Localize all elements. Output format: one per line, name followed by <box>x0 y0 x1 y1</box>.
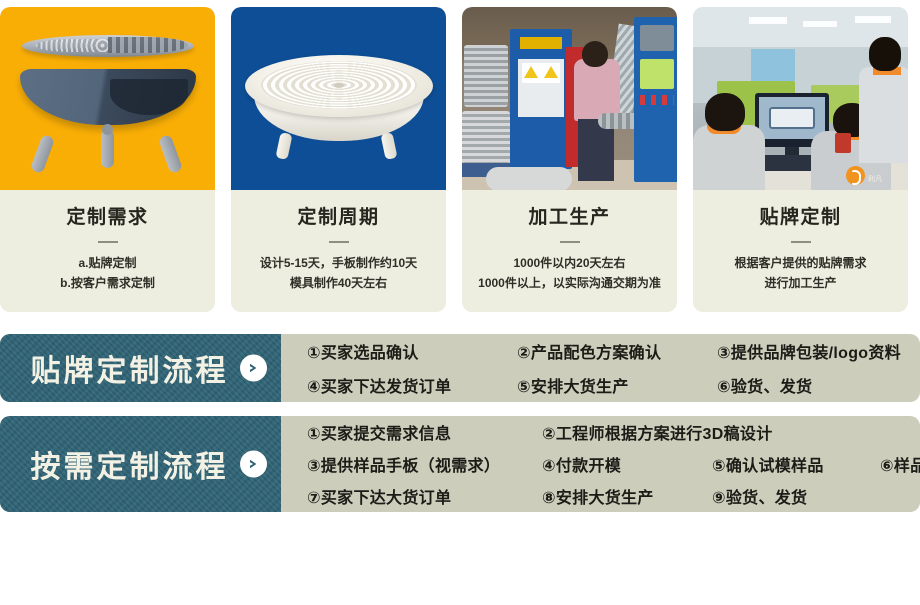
product-lid-shape <box>22 35 194 57</box>
card-media-office-photo: 利凡 <box>693 7 908 190</box>
card-desc-line: 进行加工生产 <box>734 274 866 294</box>
factory-part-stack-lower <box>462 111 510 163</box>
factory-part-stack-upper <box>464 45 508 107</box>
process-step: ⑤安排大货生产 <box>517 373 717 397</box>
office-pen-cup <box>835 133 851 153</box>
process-step-row: ①买家提交需求信息 ②工程师根据方案进行3D稿设计 <box>307 416 920 448</box>
card-divider <box>98 241 118 243</box>
company-watermark-logo: 利凡 <box>846 164 904 186</box>
ondemand-process-steps: ①买家提交需求信息 ②工程师根据方案进行3D稿设计 ③提供样品手板（视需求） ④… <box>281 416 920 512</box>
cad-drawing-on-screen <box>769 107 815 129</box>
card-description: a.贴牌定制 b.按客户需求定制 <box>60 254 155 294</box>
product-leg-right <box>158 134 183 174</box>
feature-card-oem-branding: 利凡 贴牌定制 根据客户提供的贴牌需求 进行加工生产 <box>693 7 908 312</box>
card-media-prototype-photo <box>231 7 446 190</box>
feature-card-processing-production: 加工生产 1000件以内20天左右 1000件以上，以实际沟通交期为准 <box>462 7 677 312</box>
chevron-right-icon <box>240 355 267 382</box>
card-desc-line: 根据客户提供的贴牌需求 <box>734 254 866 274</box>
factory-control-screen-top <box>640 25 674 51</box>
process-step: ③提供样品手板（视需求） <box>307 452 542 476</box>
product-bowl-shape <box>20 69 196 125</box>
card-desc-line: 设计5-15天，手板制作约10天 <box>260 254 417 274</box>
card-description: 设计5-15天，手板制作约10天 模具制作40天左右 <box>260 254 417 294</box>
process-step: ②产品配色方案确认 <box>517 339 717 363</box>
factory-worker-head <box>582 41 608 67</box>
card-divider <box>329 241 349 243</box>
process-step-row: ①买家选品确认 ②产品配色方案确认 ③提供品牌包装/logo资料 <box>307 334 920 368</box>
ondemand-process-band: 按需定制流程 ①买家提交需求信息 ②工程师根据方案进行3D稿设计 ③提供样品手板… <box>0 416 920 512</box>
oem-process-label: 贴牌定制流程 <box>31 346 251 390</box>
card-body: 贴牌定制 根据客户提供的贴牌需求 进行加工生产 <box>693 190 908 312</box>
feature-cards-row: 定制需求 a.贴牌定制 b.按客户需求定制 定制周期 设计5-15天，手板制作约… <box>0 0 920 312</box>
card-title: 贴牌定制 <box>759 208 841 229</box>
process-step: ⑥验货、发货 <box>717 373 812 397</box>
factory-control-buttons <box>640 95 674 105</box>
process-step: ⑥样品调整确认 <box>880 452 920 476</box>
card-desc-line: a.贴牌定制 <box>60 254 155 274</box>
process-step: ③提供品牌包装/logo资料 <box>717 339 901 363</box>
warning-label-icon <box>522 63 560 83</box>
process-step: ②工程师根据方案进行3D稿设计 <box>542 420 712 444</box>
card-body: 定制需求 a.贴牌定制 b.按客户需求定制 <box>0 190 215 312</box>
process-step-row: ⑦买家下达大货订单 ⑧安排大货生产 ⑨验货、发货 <box>307 480 920 512</box>
engineer-standing-head <box>869 37 901 71</box>
factory-control-screen-main <box>640 59 674 89</box>
factory-molded-part <box>486 167 572 190</box>
card-title: 定制周期 <box>297 208 379 229</box>
process-step: ⑨验货、发货 <box>712 484 880 508</box>
card-media-exploded-render <box>0 7 215 190</box>
process-step: ①买家选品确认 <box>307 339 517 363</box>
card-body: 加工生产 1000件以内20天左右 1000件以上，以实际沟通交期为准 <box>462 190 677 312</box>
office-ceiling-light <box>749 17 787 24</box>
prototype-leg-right <box>380 132 397 160</box>
oem-process-steps: ①买家选品确认 ②产品配色方案确认 ③提供品牌包装/logo资料 ④买家下达发货… <box>281 334 920 402</box>
card-divider <box>791 241 811 243</box>
card-description: 根据客户提供的贴牌需求 进行加工生产 <box>734 254 866 294</box>
ondemand-process-label-panel: 按需定制流程 <box>0 416 281 512</box>
prototype-rings-shape <box>261 61 417 109</box>
engineer-left-head <box>705 93 745 131</box>
card-description: 1000件以内20天左右 1000件以上，以实际沟通交期为准 <box>478 254 661 294</box>
process-step-row: ④买家下达发货订单 ⑤安排大货生产 ⑥验货、发货 <box>307 368 920 402</box>
feature-card-custom-requirement: 定制需求 a.贴牌定制 b.按客户需求定制 <box>0 7 215 312</box>
card-divider <box>560 241 580 243</box>
logo-mark-icon <box>846 166 865 185</box>
feature-card-custom-cycle: 定制周期 设计5-15天，手板制作约10天 模具制作40天左右 <box>231 7 446 312</box>
process-step: ⑤确认试模样品 <box>712 452 880 476</box>
oem-process-label-panel: 贴牌定制流程 <box>0 334 281 402</box>
card-desc-line: 模具制作40天左右 <box>260 274 417 294</box>
card-desc-line: 1000件以上，以实际沟通交期为准 <box>478 274 661 294</box>
process-step: ④买家下达发货订单 <box>307 373 517 397</box>
prototype-leg-left <box>275 132 292 160</box>
oem-process-band-wrapper: 贴牌定制流程 ①买家选品确认 ②产品配色方案确认 ③提供品牌包装/logo资料 … <box>0 312 920 402</box>
process-step: ④付款开模 <box>542 452 712 476</box>
process-step-row: ③提供样品手板（视需求） ④付款开模 ⑤确认试模样品 ⑥样品调整确认 <box>307 448 920 480</box>
process-step: ①买家提交需求信息 <box>307 420 542 444</box>
factory-machine-sign <box>520 37 562 49</box>
engineer-left-body <box>693 125 765 190</box>
card-title: 定制需求 <box>66 208 148 229</box>
card-media-factory-photo <box>462 7 677 190</box>
factory-worker-body <box>574 59 620 121</box>
chevron-right-icon <box>240 451 267 478</box>
card-title: 加工生产 <box>528 208 610 229</box>
engineer-standing-body <box>859 67 908 163</box>
card-body: 定制周期 设计5-15天，手板制作约10天 模具制作40天左右 <box>231 190 446 312</box>
card-desc-line: 1000件以内20天左右 <box>478 254 661 274</box>
process-step: ⑧安排大货生产 <box>542 484 712 508</box>
ondemand-process-band-wrapper: 按需定制流程 ①买家提交需求信息 ②工程师根据方案进行3D稿设计 ③提供样品手板… <box>0 402 920 512</box>
logo-text: 利凡 <box>868 174 883 184</box>
ondemand-process-label: 按需定制流程 <box>31 442 251 486</box>
card-desc-line: b.按客户需求定制 <box>60 274 155 294</box>
product-leg-center <box>101 130 114 168</box>
process-step: ⑦买家下达大货订单 <box>307 484 542 508</box>
office-ceiling-light <box>803 21 837 27</box>
product-leg-left <box>30 134 55 174</box>
office-ceiling-light <box>855 16 891 23</box>
oem-process-band: 贴牌定制流程 ①买家选品确认 ②产品配色方案确认 ③提供品牌包装/logo资料 … <box>0 334 920 402</box>
office-wall-poster <box>751 49 795 81</box>
